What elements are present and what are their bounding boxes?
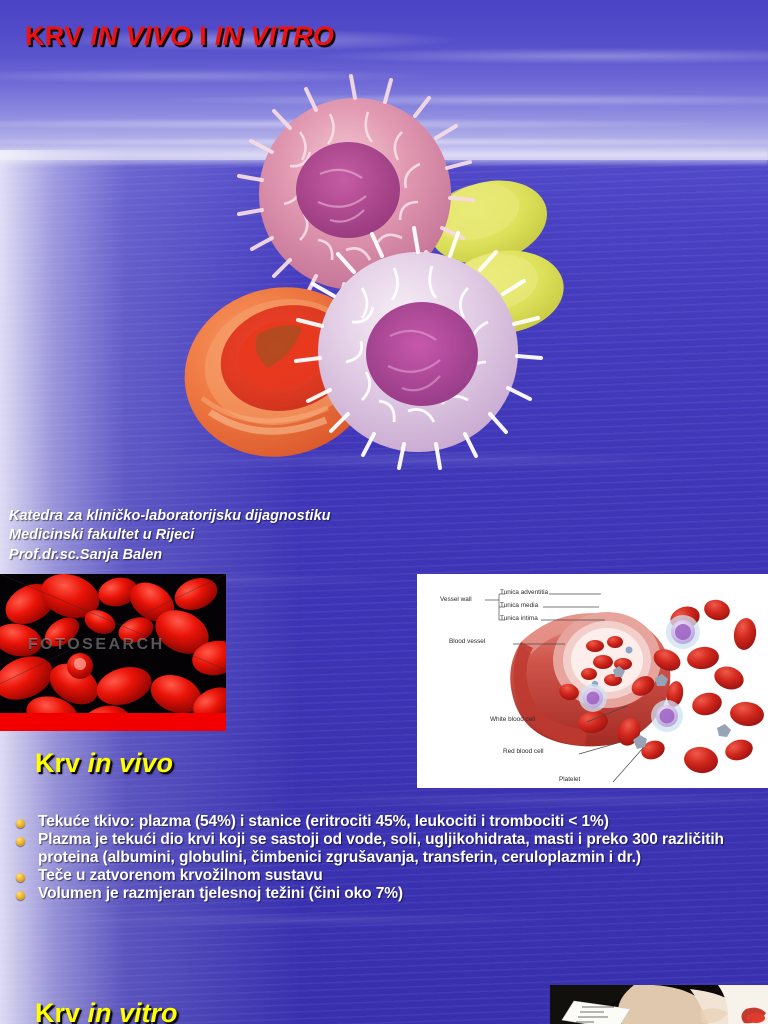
diagram-label-blood-vessel: Blood vessel bbox=[449, 638, 485, 645]
credits-block: Katedra za kliničko-laboratorijsku dijag… bbox=[9, 507, 331, 565]
heading-krv-in-vivo: Krv in vivo bbox=[35, 748, 173, 779]
heading-krv-in-vitro: Krv in vitro bbox=[35, 998, 178, 1024]
diagram-label-platelet: Platelet bbox=[559, 776, 580, 783]
credit-line-faculty: Medicinski fakultet u Rijeci bbox=[9, 526, 331, 545]
diagram-label-tunica-media: Tunica media bbox=[500, 602, 538, 609]
blood-vessel-diagram: Vessel wall Tunica adventitia Tunica med… bbox=[417, 574, 768, 788]
bullet-text: Teče u zatvorenom krvožilnom sustavu bbox=[38, 867, 323, 884]
diagram-label-tunica-intima: Tunica intima bbox=[500, 615, 538, 622]
bullet-list: Tekuće tkivo: plazma (54%) i stanice (er… bbox=[8, 813, 764, 904]
bullet-text: Plazma je tekući dio krvi koji se sastoj… bbox=[38, 831, 764, 866]
heading-krv-word: Krv bbox=[35, 748, 88, 778]
heading-in-vitro-word: in vitro bbox=[88, 998, 178, 1024]
bullet-dot-icon bbox=[16, 819, 25, 828]
bullet-dot-icon bbox=[16, 873, 25, 882]
blood-cells-illustration bbox=[170, 62, 590, 502]
bullet-text: Volumen je razmjeran tjelesnoj težini (č… bbox=[38, 885, 403, 902]
photo-red-bar bbox=[0, 713, 226, 731]
title-part-in-vivo: IN VIVO bbox=[90, 21, 191, 51]
slide-title: KRV IN VIVO I IN VITRO bbox=[25, 21, 334, 52]
list-item: Volumen je razmjeran tjelesnoj težini (č… bbox=[8, 885, 764, 902]
heading-in-vivo-word: in vivo bbox=[88, 748, 174, 778]
title-part-i: I bbox=[191, 21, 214, 51]
credit-line-author: Prof.dr.sc.Sanja Balen bbox=[9, 546, 331, 565]
photo-red-blood-cells: FOTOSEARCH bbox=[0, 574, 226, 731]
bullet-dot-icon bbox=[16, 891, 25, 900]
photo-watermark: FOTOSEARCH bbox=[28, 636, 165, 654]
heading-krv-word: Krv bbox=[35, 998, 88, 1024]
bullet-dot-icon bbox=[16, 837, 25, 846]
diagram-label-vessel-wall: Vessel wall bbox=[440, 596, 472, 603]
photo-blood-bag bbox=[550, 985, 768, 1024]
title-part-in-vitro: IN VITRO bbox=[215, 21, 334, 51]
diagram-label-tunica-adventitia: Tunica adventitia bbox=[500, 589, 548, 596]
list-item: Plazma je tekući dio krvi koji se sastoj… bbox=[8, 831, 764, 866]
title-part-krv: KRV bbox=[25, 21, 90, 51]
credit-line-department: Katedra za kliničko-laboratorijsku dijag… bbox=[9, 507, 331, 526]
slide-canvas: KRV IN VIVO I IN VITRO bbox=[0, 0, 768, 1024]
diagram-label-red-blood-cell: Red blood cell bbox=[503, 748, 544, 755]
diagram-label-white-blood-cell: White blood cell bbox=[490, 716, 535, 723]
list-item: Teče u zatvorenom krvožilnom sustavu bbox=[8, 867, 764, 884]
list-item: Tekuće tkivo: plazma (54%) i stanice (er… bbox=[8, 813, 764, 830]
bullet-text: Tekuće tkivo: plazma (54%) i stanice (er… bbox=[38, 813, 609, 830]
